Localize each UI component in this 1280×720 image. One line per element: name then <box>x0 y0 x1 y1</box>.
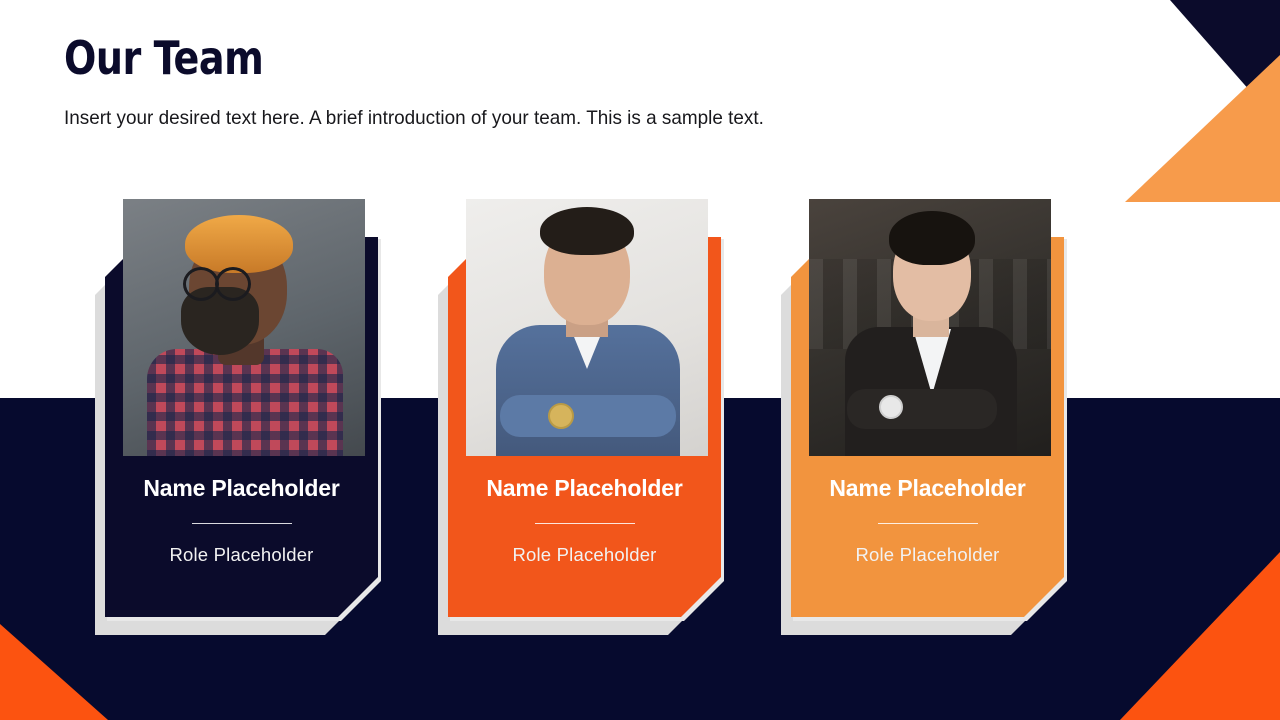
member-name: Name Placeholder <box>791 475 1064 503</box>
member-role: Role Placeholder <box>105 524 378 566</box>
team-card-1[interactable]: Name Placeholder Role Placeholder <box>95 195 395 635</box>
member-photo <box>123 199 365 456</box>
member-photo <box>809 199 1051 456</box>
card-text: Name Placeholder Role Placeholder <box>448 475 721 566</box>
team-card-3[interactable]: Name Placeholder Role Placeholder <box>781 195 1081 635</box>
team-card-2[interactable]: Name Placeholder Role Placeholder <box>438 195 738 635</box>
member-name: Name Placeholder <box>105 475 378 503</box>
member-role: Role Placeholder <box>791 524 1064 566</box>
member-photo <box>466 199 708 456</box>
member-name: Name Placeholder <box>448 475 721 503</box>
card-text: Name Placeholder Role Placeholder <box>105 475 378 566</box>
slide-canvas: Our Team Insert your desired text here. … <box>0 0 1280 720</box>
member-role: Role Placeholder <box>448 524 721 566</box>
team-card-list: Name Placeholder Role Placeholder Name <box>0 0 1280 720</box>
card-text: Name Placeholder Role Placeholder <box>791 475 1064 566</box>
